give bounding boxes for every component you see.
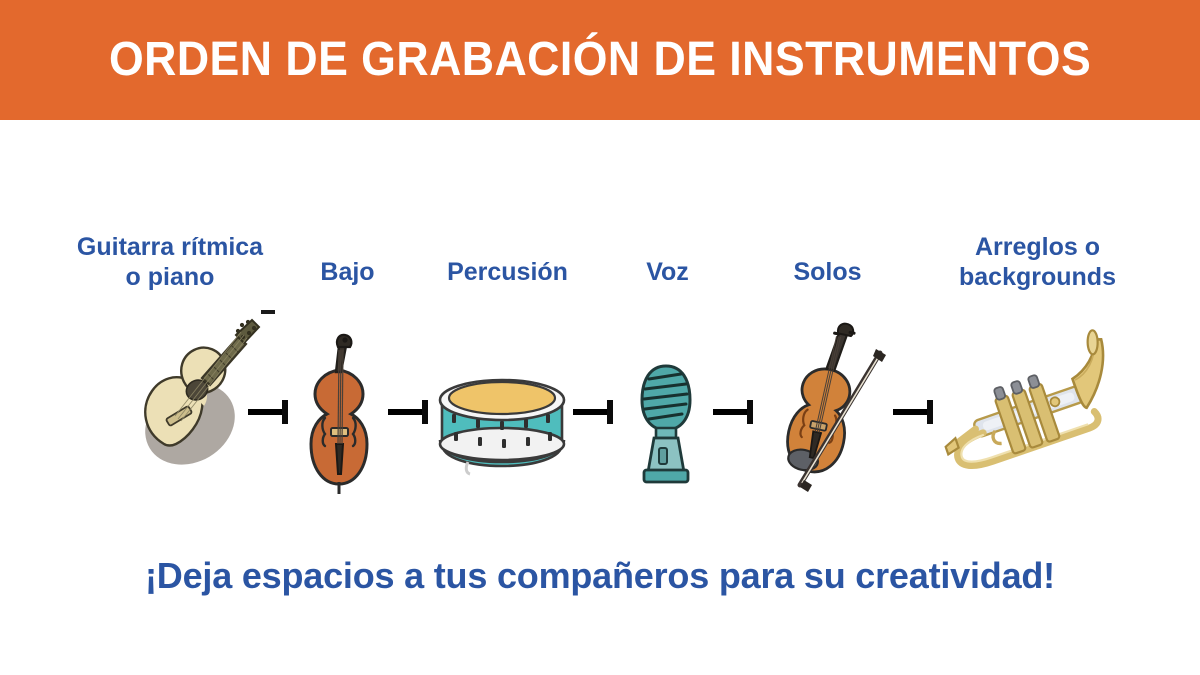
trumpet-icon: [930, 350, 1120, 470]
arrow-head: [282, 400, 288, 424]
flow-label-arreglos-o-backgrounds: Arreglos o backgrounds: [930, 233, 1145, 292]
double-bass-icon: [295, 332, 385, 502]
arrow-right-icon-2: [388, 400, 432, 424]
arrow-right-icon-3: [573, 400, 617, 424]
arrow-shaft: [893, 409, 929, 415]
flow-label-guitarra-ritmica-o-piano: Guitarra rítmica o piano: [45, 233, 295, 292]
arrow-shaft: [713, 409, 749, 415]
arrow-head: [422, 400, 428, 424]
vintage-microphone-icon: [626, 360, 706, 490]
flow-label-percusion: Percusión: [420, 258, 595, 288]
arrow-head: [747, 400, 753, 424]
arrow-right-icon-4: [713, 400, 757, 424]
flow-label-voz: Voz: [610, 258, 725, 288]
slide-caption: ¡Deja espacios a tus compañeros para su …: [0, 555, 1200, 597]
arrow-head: [607, 400, 613, 424]
stray-dash-artifact: [261, 310, 275, 314]
title-band: ORDEN DE GRABACIÓN DE INSTRUMENTOS: [0, 0, 1200, 120]
flow-label-bajo: Bajo: [285, 258, 410, 288]
flow-label-solos: Solos: [760, 258, 895, 288]
page-title: ORDEN DE GRABACIÓN DE INSTRUMENTOS: [109, 36, 1091, 84]
violin-with-bow-icon: [782, 325, 892, 500]
arrow-shaft: [573, 409, 609, 415]
arrow-shaft: [388, 409, 424, 415]
snare-drum-icon: [432, 370, 572, 480]
arrow-right-icon-1: [248, 400, 292, 424]
arrow-shaft: [248, 409, 284, 415]
acoustic-guitar-icon: [128, 316, 258, 466]
